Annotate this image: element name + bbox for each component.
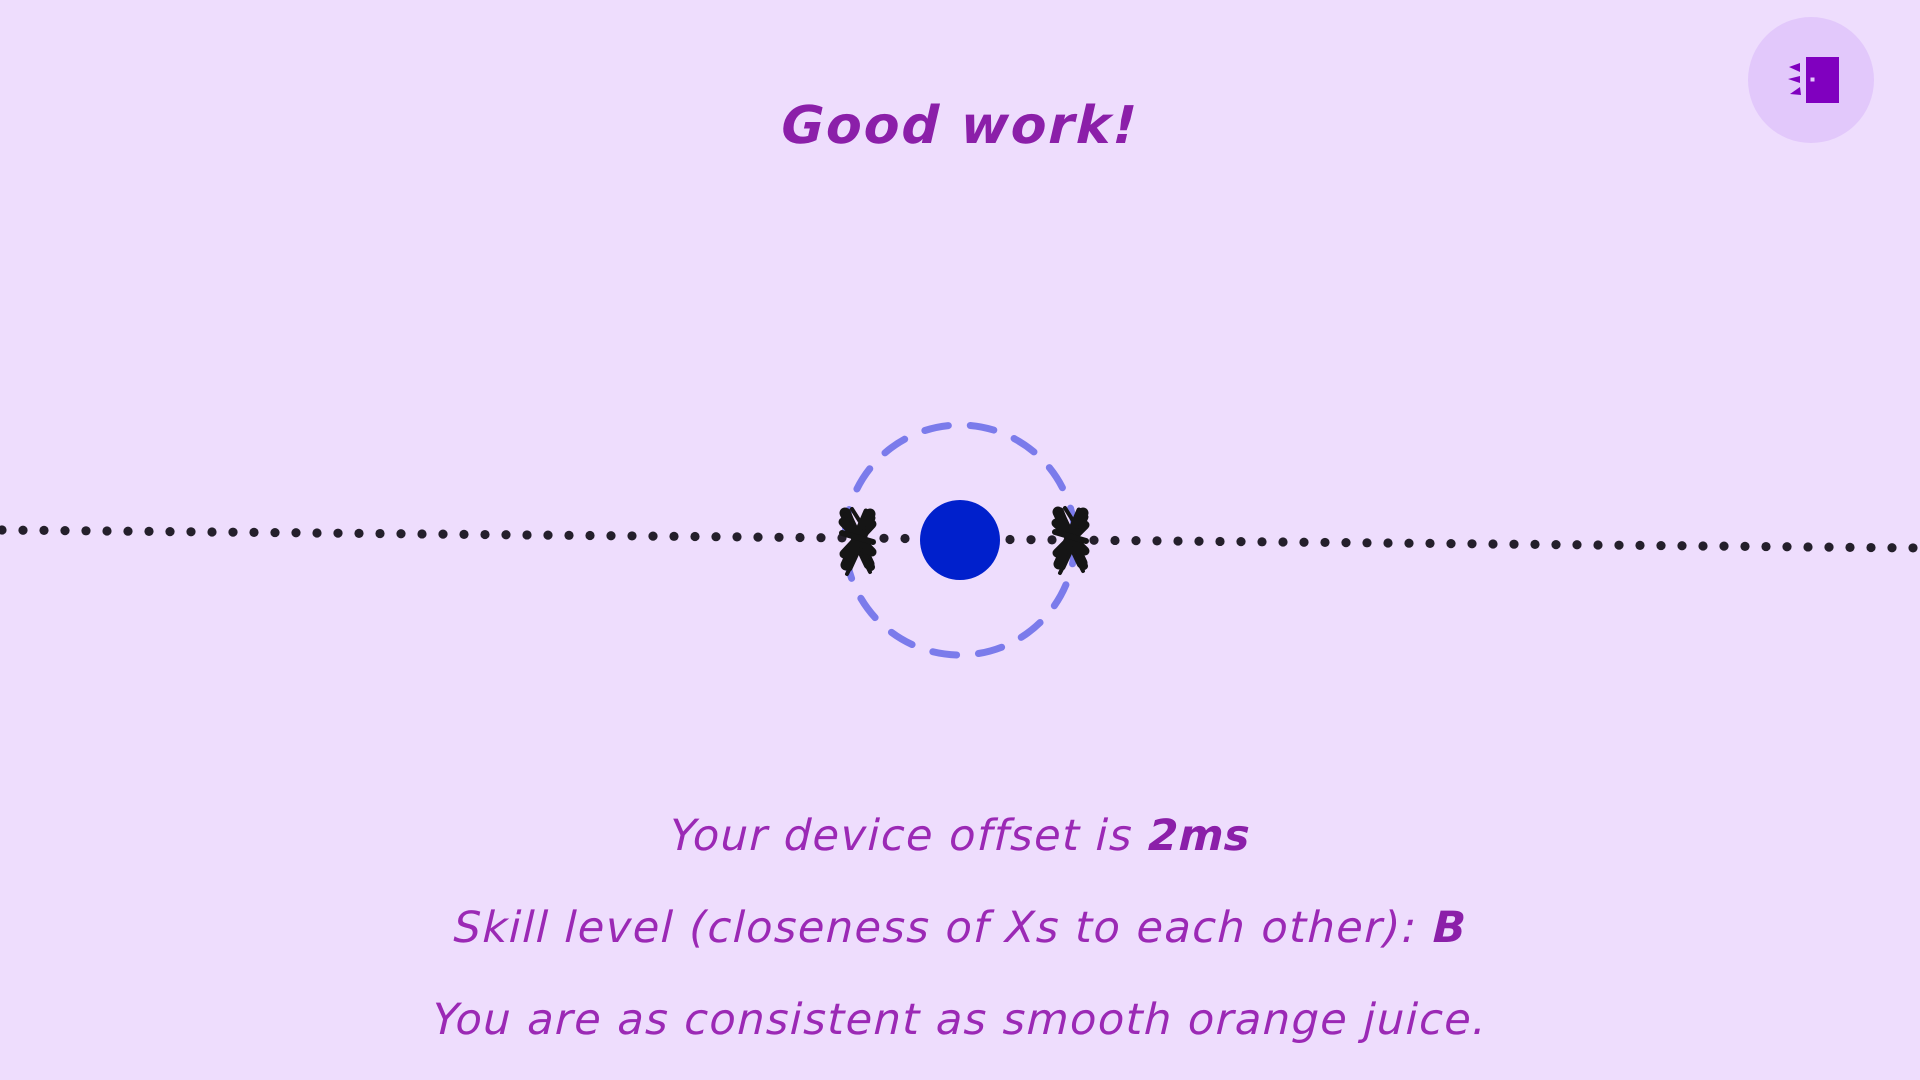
timeline-dot <box>585 531 594 540</box>
timeline-dot <box>690 532 699 541</box>
timeline-dot <box>1131 536 1140 545</box>
timeline-dot <box>1803 542 1812 551</box>
timeline-dot <box>1677 541 1686 550</box>
timeline-dot <box>1446 539 1455 548</box>
timeline-dot <box>186 527 195 536</box>
skill-line: Skill level (closeness of Xs to each oth… <box>0 882 1920 974</box>
timeline-dot <box>1698 541 1707 550</box>
timeline-dot <box>1782 542 1791 551</box>
timeline-dot <box>606 531 615 540</box>
timeline-dot <box>1278 537 1287 546</box>
timeline-dot <box>1257 537 1266 546</box>
timeline-dot <box>963 534 972 543</box>
timeline-dot <box>1425 539 1434 548</box>
timeline-dot <box>564 531 573 540</box>
offset-value: 2ms <box>1147 811 1251 861</box>
timeline-dot <box>1740 542 1749 551</box>
timeline-dot <box>1299 538 1308 547</box>
timeline-dot <box>837 533 846 542</box>
timeline-dot <box>1656 541 1665 550</box>
timeline-dot <box>333 529 342 538</box>
timeline-dot <box>1488 539 1497 548</box>
timeline-dot <box>879 534 888 543</box>
timeline-dot <box>900 534 909 543</box>
result-text-block: Your device offset is 2ms Skill level (c… <box>0 790 1920 1066</box>
timeline-dot <box>249 528 258 537</box>
timeline-dot <box>480 530 489 539</box>
timeline-dot <box>1404 539 1413 548</box>
timeline-dot <box>270 528 279 537</box>
timeline-dot <box>18 526 27 535</box>
x-mark-left <box>842 509 873 574</box>
exit-door-icon <box>1748 17 1874 143</box>
tolerance-ring <box>845 425 1075 655</box>
exit-button[interactable] <box>1748 17 1874 143</box>
timeline-dot <box>942 534 951 543</box>
timeline-dot <box>354 529 363 538</box>
timeline-dot <box>1047 535 1056 544</box>
timeline-dot <box>1152 536 1161 545</box>
dotted-timeline <box>0 525 1920 552</box>
timeline-dot <box>1068 535 1077 544</box>
timeline-dot <box>1089 536 1098 545</box>
timeline-dot <box>1110 536 1119 545</box>
timeline-dot <box>753 533 762 542</box>
timeline-dot <box>459 530 468 539</box>
timeline-dot <box>669 532 678 541</box>
timeline-dot <box>543 531 552 540</box>
timeline-dot <box>1887 543 1896 552</box>
timeline-dot <box>102 526 111 535</box>
timeline-dot <box>396 529 405 538</box>
timeline-dot <box>648 532 657 541</box>
timeline-dot <box>1719 542 1728 551</box>
timeline-dot <box>1383 538 1392 547</box>
timeline-dot <box>1866 543 1875 552</box>
timeline-dot <box>291 528 300 537</box>
timeline-dot <box>417 529 426 538</box>
timeline-dot <box>858 533 867 542</box>
timeline-dot <box>795 533 804 542</box>
timeline-dot <box>1614 541 1623 550</box>
timeline-dot <box>39 526 48 535</box>
offset-line: Your device offset is 2ms <box>0 790 1920 882</box>
timeline-dot <box>1215 537 1224 546</box>
timeline-dot <box>921 534 930 543</box>
skill-label: Skill level (closeness of Xs to each oth… <box>453 903 1434 953</box>
timeline-dot <box>228 528 237 537</box>
timeline-dot <box>81 526 90 535</box>
timeline-dot <box>1173 536 1182 545</box>
timeline-dot <box>1467 539 1476 548</box>
timeline-dot <box>0 525 7 534</box>
timeline-dot <box>207 527 216 536</box>
timeline-dot <box>711 532 720 541</box>
timeline-dot <box>1005 535 1014 544</box>
timeline-dot <box>312 528 321 537</box>
app-stage: Good work! <box>0 0 1920 1080</box>
timeline-dot <box>1341 538 1350 547</box>
timeline-dot <box>1320 538 1329 547</box>
x-mark-right <box>1055 508 1086 573</box>
timeline-dot <box>1845 543 1854 552</box>
timeline-dot <box>1593 540 1602 549</box>
timeline-dot <box>1236 537 1245 546</box>
offset-label: Your device offset is <box>669 811 1149 861</box>
timeline-dot <box>1761 542 1770 551</box>
timeline-dot <box>1026 535 1035 544</box>
page-title: Good work! <box>0 96 1920 156</box>
timeline-dot <box>732 532 741 541</box>
timeline-dot <box>501 530 510 539</box>
skill-grade: B <box>1432 903 1467 953</box>
timeline-dot <box>1194 537 1203 546</box>
timeline-dot <box>984 535 993 544</box>
timeline-dot <box>165 527 174 536</box>
flavor-line: You are as consistent as smooth orange j… <box>0 974 1920 1066</box>
target-dot <box>920 500 1000 580</box>
timeline-dot <box>1635 541 1644 550</box>
timeline-dot <box>522 530 531 539</box>
timeline-dot <box>144 527 153 536</box>
timeline-dot <box>1908 543 1917 552</box>
timeline-dot <box>1530 540 1539 549</box>
timeline-dot <box>1551 540 1560 549</box>
timeline-dot <box>1824 543 1833 552</box>
timeline-dot <box>438 530 447 539</box>
timeline-dot <box>627 531 636 540</box>
timeline-dot <box>816 533 825 542</box>
timeline-dot <box>1362 538 1371 547</box>
timeline-dot <box>1509 540 1518 549</box>
timeline-dot <box>375 529 384 538</box>
timeline-dot <box>60 526 69 535</box>
timeline-dot <box>1572 540 1581 549</box>
timeline-dot <box>123 527 132 536</box>
timeline-dot <box>774 533 783 542</box>
